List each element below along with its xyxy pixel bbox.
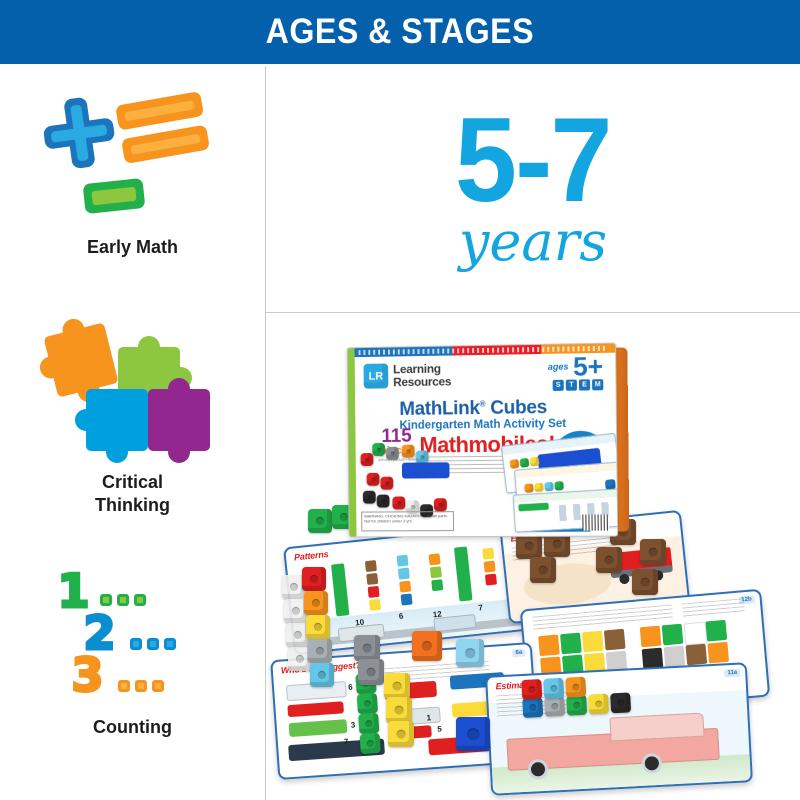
vehicle-number: 1 [426,713,431,722]
page-header: AGES & STAGES [0,0,800,64]
label-line-1: Critical [95,471,170,494]
loose-cube [384,673,410,699]
minus-sign-icon [82,178,145,214]
loose-cube [386,697,412,723]
brand-cube-icon [364,364,389,389]
mat-tick-label: 6 [398,611,403,620]
age-range-panel: 5-7 years [266,66,800,312]
loose-cube [308,509,332,533]
loose-cube [456,639,484,667]
product-title-main: MathLink [399,398,480,420]
equals-sign-icon [114,87,211,173]
numbers-123-icon: 1 2 3 [38,566,228,716]
sidebar-label-early-math: Early Math [87,236,178,259]
dots-after-three [118,680,164,692]
loose-cube [412,631,442,661]
vehicle-number: 5 [437,724,442,733]
ages-value: 5+ [573,356,603,377]
sidebar-label-counting: Counting [93,716,172,739]
loose-cube [308,639,332,663]
puzzle-piece-purple [148,389,210,451]
loose-cube [306,615,330,639]
vehicle-number: 3 [351,721,356,730]
sidebar-item-critical-thinking: Critical Thinking [0,321,265,556]
ages-badge: ages 5+ S T E M [548,356,604,391]
stem-badges: S T E M [548,379,603,391]
vehicle-number: 7 [344,737,349,746]
skills-sidebar: Early Math [0,66,265,800]
loose-cube [456,717,490,751]
sidebar-label-critical-thinking: Critical Thinking [95,471,170,518]
stem-letter: S [553,380,564,391]
stem-letter: M [592,379,603,390]
digit-three: 3 [72,648,104,702]
estimation-mat: Estimation 11a [485,662,753,796]
ages-and-stages-infographic: AGES & STAGES Early Math [0,0,800,800]
stem-letter: E [579,379,590,390]
product-title-second: Cubes [490,397,547,419]
math-symbols-icon [38,86,228,236]
label-line-2: Thinking [95,494,170,517]
mat-title-patterns: Patterns [294,549,329,563]
loose-cube [596,547,622,573]
loose-cube [516,533,542,559]
barcode [582,514,609,530]
loose-cube [358,659,384,685]
product-box: Learning Resources ages 5+ S T E M MathL… [347,343,616,536]
product-subtitle: Kindergarten Math Activity Set [399,418,566,432]
loose-cube [302,567,326,591]
age-range-value: 5-7 [455,109,611,212]
product-title: MathLink® Cubes [399,397,547,421]
puzzle-piece-blue [86,389,148,451]
puzzle-pieces-icon [38,321,228,471]
sidebar-item-counting: 1 2 3 Counting [0,566,265,800]
registered-mark: ® [480,400,486,409]
ages-label: ages [548,362,569,372]
brand-logo: Learning Resources [364,362,452,388]
box-front-panel: Learning Resources ages 5+ S T E M MathL… [347,343,618,538]
loose-cube [388,721,414,747]
puzzle-piece-orange [43,322,118,397]
brand-name: Learning Resources [393,362,451,388]
mat-code-badge: 11a [724,669,740,678]
box-left-edge [348,348,357,536]
product-photo-panel: Patterns [266,313,800,800]
loose-cube [304,591,328,615]
loose-cube [640,539,666,565]
loose-cube [354,635,380,661]
dots-after-one [100,594,146,606]
plus-sign-icon [39,93,118,172]
vehicle-number: 6 [348,683,353,692]
stem-letter: T [566,379,577,390]
dots-after-two [130,638,176,650]
warning-label: WARNING: CHOKING HAZARD — Small parts. N… [361,511,454,531]
loose-cube [632,569,658,595]
page-title: AGES & STAGES [266,12,534,52]
loose-cube [530,557,556,583]
mat-code-badge: 6a [512,648,525,657]
loose-cube [310,663,334,687]
mat-tick-label: 7 [478,603,483,612]
sidebar-item-early-math: Early Math [0,86,265,316]
